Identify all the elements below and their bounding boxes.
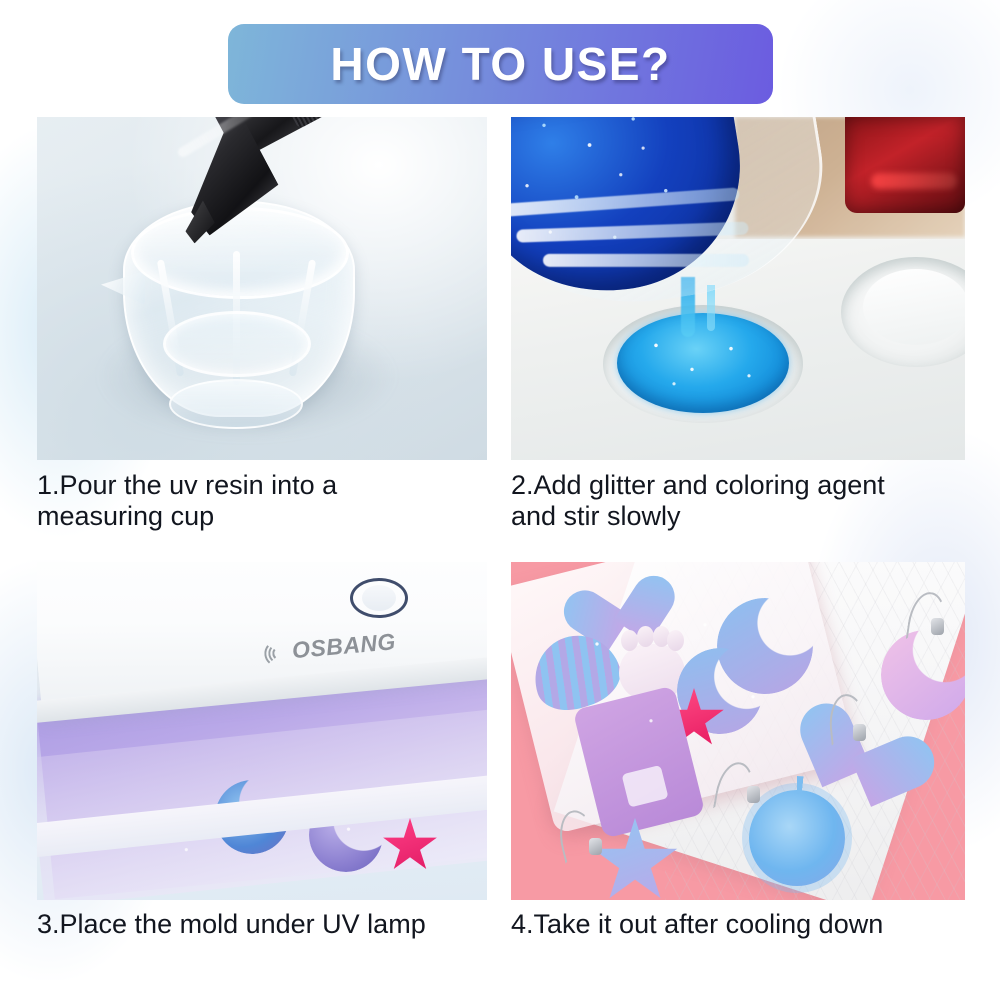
- steps-grid: 1.Pour the uv resin into a measuring cup: [0, 0, 1000, 1000]
- power-icon: [350, 578, 408, 618]
- cup-inner-ring: [163, 311, 311, 377]
- resin-pool-glitter: [629, 323, 779, 403]
- step-2-photo: [511, 117, 965, 460]
- star-charm-shape: [591, 818, 679, 900]
- step-3-caption: 3.Place the mold under UV lamp: [37, 909, 507, 940]
- earring-bead: [931, 618, 944, 635]
- earring-bead: [747, 786, 760, 803]
- step-3-photo: [37, 562, 487, 900]
- charm-star-earring-blue: [591, 818, 679, 900]
- sun-charm-shape: [749, 790, 845, 886]
- step-4-photo: [511, 562, 965, 900]
- step-2-caption: 2.Add glitter and coloring agent and sti…: [511, 470, 981, 532]
- step-3-image: [37, 562, 487, 900]
- logo-arcs-icon: [261, 638, 289, 666]
- cup-base: [169, 379, 303, 429]
- step-1-caption: 1.Pour the uv resin into a measuring cup: [37, 470, 497, 532]
- step-4-image: [511, 562, 965, 900]
- mold-cavity-right-inner: [863, 269, 965, 345]
- power-button[interactable]: [350, 578, 408, 618]
- red-bottle-highlight: [871, 173, 957, 189]
- charm-moon-earring-pink: [881, 630, 965, 720]
- step-1-photo: [37, 117, 487, 460]
- step-4-caption: 4.Take it out after cooling down: [511, 909, 981, 940]
- charm-sun-blue: [749, 790, 845, 886]
- earring-bead: [853, 724, 866, 741]
- step-2-image: [511, 117, 965, 460]
- earring-bead: [589, 838, 602, 855]
- step-1-image: [37, 117, 487, 460]
